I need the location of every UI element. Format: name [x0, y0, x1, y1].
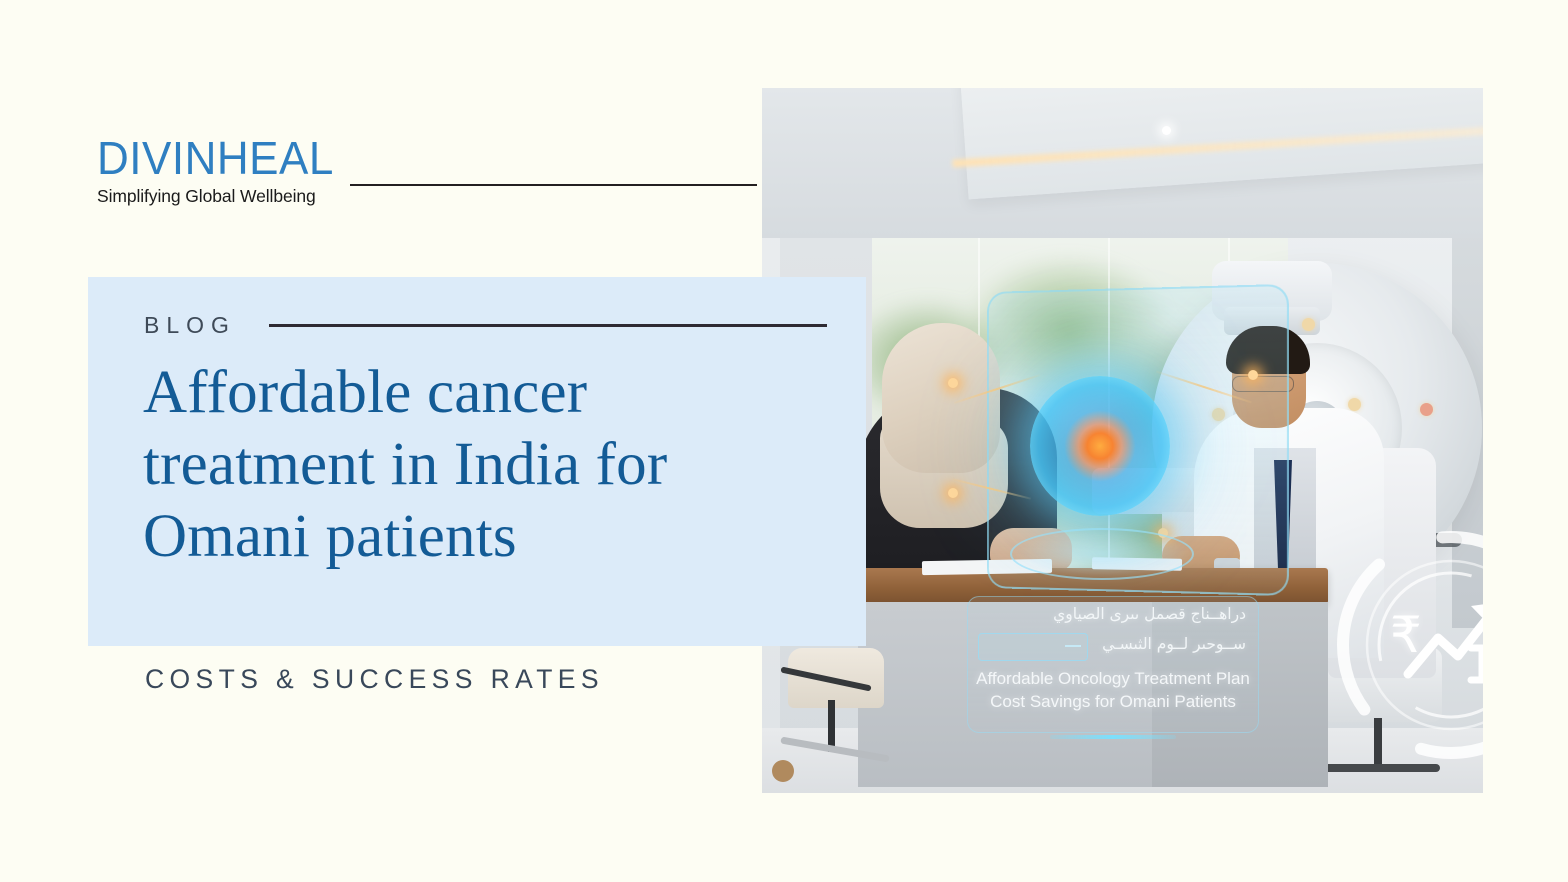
holo-english-line-2: Cost Savings for Omani Patients [968, 692, 1258, 712]
hero-photo: دراهــناج قصمل ںىرى الصياوي ســوحىر لــو… [762, 88, 1483, 793]
brand-tagline: Simplifying Global Wellbeing [97, 186, 347, 207]
brand-logo[interactable]: DIVINHEAL Simplifying Global Wellbeing [97, 136, 347, 207]
logo-divider-rule [350, 184, 757, 186]
eyebrow-divider-rule [269, 324, 827, 326]
holo-node [948, 378, 958, 388]
holo-input-field[interactable] [978, 633, 1088, 661]
page-title: Affordable cancer treatment in India for… [143, 357, 833, 573]
ceiling-downlight-icon [1162, 126, 1171, 135]
holo-english-line-1: Affordable Oncology Treatment Plan [968, 669, 1258, 689]
rupee-symbol-icon: ₹ [1390, 606, 1422, 664]
eyebrow-label: BLOG [144, 312, 236, 339]
subtitle-label: COSTS & SUCCESS RATES [145, 664, 604, 695]
rupee-savings-hud: ₹ [1334, 528, 1483, 763]
tumour-cell-hologram [1030, 376, 1170, 516]
doctor-chair-base [1320, 764, 1440, 772]
linac-indicator [1302, 318, 1315, 331]
poster-canvas: دراهــناج قصمل ںىرى الصياوي ســوحىر لــو… [0, 0, 1568, 882]
spare-chair-wheel [772, 760, 794, 782]
hologram-base-ring [1010, 528, 1194, 580]
holo-node [1248, 370, 1258, 380]
headline-card: BLOG Affordable cancer treatment in Indi… [88, 277, 866, 646]
holo-arabic-line-1: دراهــناج قصمل ںىرى الصياوي [968, 605, 1258, 623]
holo-progress-bar [1050, 735, 1176, 739]
linac-indicator [1420, 403, 1433, 416]
eyebrow-row: BLOG [144, 312, 844, 339]
patient-hijab [882, 323, 1000, 473]
holo-node [948, 488, 958, 498]
brand-name: DIVINHEAL [97, 136, 347, 183]
holographic-caption-panel: دراهــناج قصمل ںىرى الصياوي ســوحىر لــو… [967, 596, 1259, 733]
linac-indicator [1348, 398, 1361, 411]
